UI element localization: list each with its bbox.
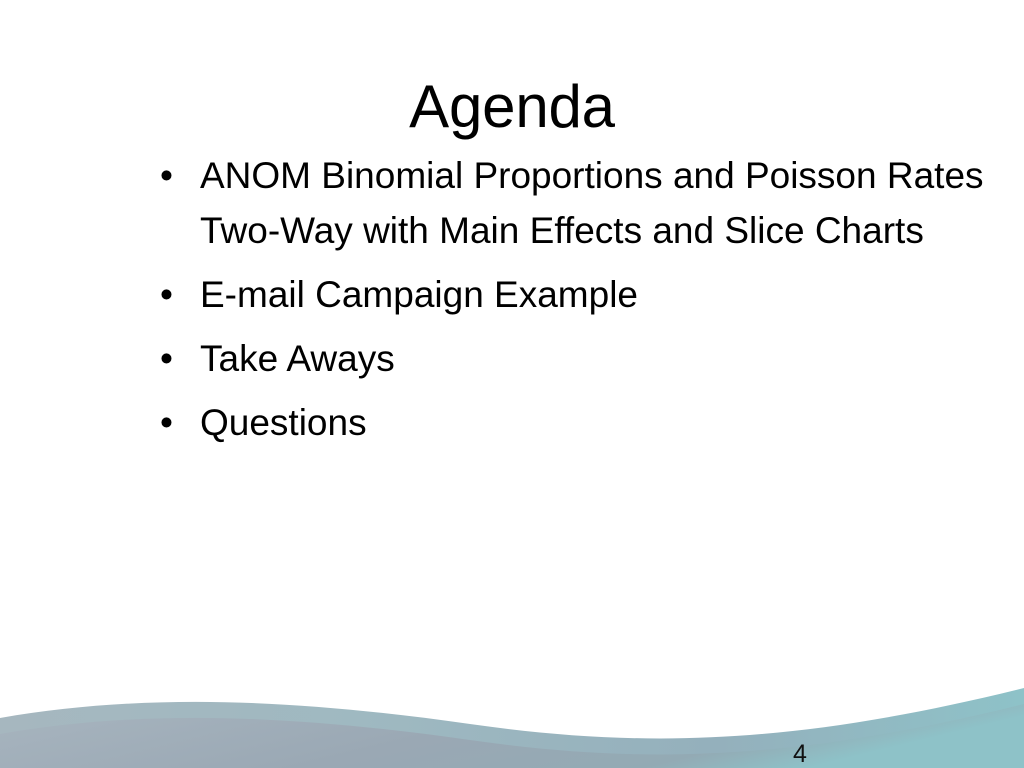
list-item: • ANOM Binomial Proportions and Poisson … <box>152 148 1012 258</box>
bullet-point-icon: • <box>160 331 182 386</box>
wave-band-shape <box>0 688 1024 754</box>
slide-canvas: Agenda • ANOM Binomial Proportions and P… <box>0 0 1024 768</box>
agenda-bullet-list: • ANOM Binomial Proportions and Poisson … <box>152 148 1012 459</box>
list-item: • E-mail Campaign Example <box>152 267 1012 322</box>
footer-wave-decoration <box>0 658 1024 768</box>
wave-body-shape <box>0 694 1024 768</box>
list-item-label: Take Aways <box>200 331 1012 386</box>
list-item-label: ANOM Binomial Proportions and Poisson Ra… <box>200 148 1012 258</box>
list-item-label: E-mail Campaign Example <box>200 267 1012 322</box>
list-item-label: Questions <box>200 395 1012 450</box>
list-item: • Questions <box>152 395 1012 450</box>
list-item: • Take Aways <box>152 331 1012 386</box>
bullet-point-icon: • <box>160 267 182 322</box>
page-title: Agenda <box>0 74 1024 140</box>
slide-number: 4 <box>793 740 807 768</box>
bullet-point-icon: • <box>160 148 182 203</box>
bullet-point-icon: • <box>160 395 182 450</box>
